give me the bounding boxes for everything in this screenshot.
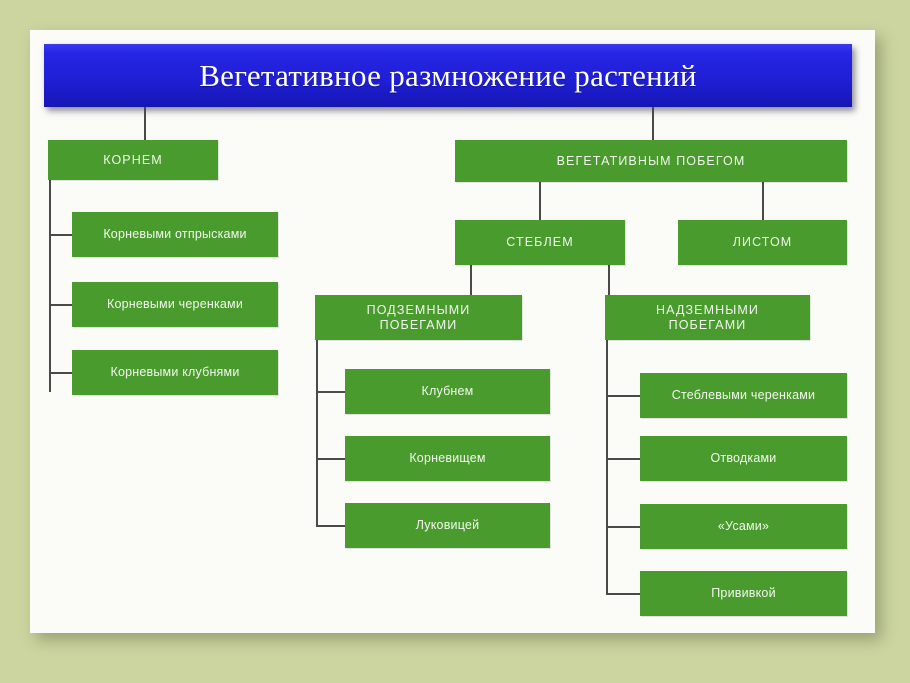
- node-kornem-label: КОРНЕМ: [103, 153, 163, 168]
- node-listom-label: ЛИСТОМ: [733, 235, 793, 250]
- node-podzemnymi-pobegami[interactable]: ПОДЗЕМНЫМИ ПОБЕГАМИ: [315, 295, 522, 340]
- node-lukovicey-label: Луковицей: [416, 518, 480, 533]
- node-steblem[interactable]: СТЕБЛЕМ: [455, 220, 625, 265]
- node-kornevymi-cherenkami-label: Корневыми черенками: [107, 297, 243, 312]
- connector-nadzemnymi-stub-4: [606, 593, 640, 595]
- connector-banner-to-vegetative: [652, 107, 654, 140]
- node-steblevymi-cherenkami[interactable]: Стеблевыми черенками: [640, 373, 847, 418]
- node-usami[interactable]: «Усами»: [640, 504, 847, 549]
- connector-nadzemnymi-trunk: [606, 340, 608, 593]
- node-privivkoy-label: Прививкой: [711, 586, 776, 601]
- connector-podzemnymi-stub-3: [316, 525, 345, 527]
- node-otvodkami[interactable]: Отводками: [640, 436, 847, 481]
- connector-nadzemnymi-stub-3: [606, 526, 640, 528]
- node-kornevymi-klubnyami[interactable]: Корневыми клубнями: [72, 350, 278, 395]
- node-kornevishchem[interactable]: Корневищем: [345, 436, 550, 481]
- node-listom[interactable]: ЛИСТОМ: [678, 220, 847, 265]
- node-vegetativnym-pobegom[interactable]: ВЕГЕТАТИВНЫМ ПОБЕГОМ: [455, 140, 847, 182]
- node-podzemnymi-pobegami-label: ПОДЗЕМНЫМИ ПОБЕГАМИ: [367, 303, 471, 333]
- node-lukovicey[interactable]: Луковицей: [345, 503, 550, 548]
- node-klubnem[interactable]: Клубнем: [345, 369, 550, 414]
- node-kornevishchem-label: Корневищем: [409, 451, 485, 466]
- title-banner: Вегетативное размножение растений: [44, 44, 852, 107]
- node-kornevymi-cherenkami[interactable]: Корневыми черенками: [72, 282, 278, 327]
- node-nadzemnymi-pobegami-label: НАДЗЕМНЫМИ ПОБЕГАМИ: [656, 303, 759, 333]
- node-vegetativnym-pobegom-label: ВЕГЕТАТИВНЫМ ПОБЕГОМ: [557, 154, 746, 169]
- connector-podzemnymi-stub-2: [316, 458, 345, 460]
- connector-banner-to-kornem: [144, 107, 146, 140]
- connector-kornem-stub-3: [49, 372, 72, 374]
- connector-nadzemnymi-stub-2: [606, 458, 640, 460]
- page-title: Вегетативное размножение растений: [199, 58, 697, 94]
- node-kornevymi-otpryskami[interactable]: Корневыми отпрысками: [72, 212, 278, 257]
- node-kornevymi-otpryskami-label: Корневыми отпрысками: [103, 227, 246, 242]
- node-nadzemnymi-pobegami[interactable]: НАДЗЕМНЫМИ ПОБЕГАМИ: [605, 295, 810, 340]
- connector-steblem-to-nadzemnymi: [608, 265, 610, 295]
- connector-kornem-stub-2: [49, 304, 72, 306]
- node-kornevymi-klubnyami-label: Корневыми клубнями: [110, 365, 239, 380]
- connector-steblem-to-podzemnymi: [470, 265, 472, 295]
- connector-nadzemnymi-stub-1: [606, 395, 640, 397]
- connector-podzemnymi-stub-1: [316, 391, 345, 393]
- node-klubnem-label: Клубнем: [422, 384, 474, 399]
- connector-podzemnymi-trunk: [316, 340, 318, 525]
- node-steblevymi-cherenkami-label: Стеблевыми черенками: [672, 388, 815, 403]
- node-privivkoy[interactable]: Прививкой: [640, 571, 847, 616]
- connector-vegetative-to-listom: [762, 182, 764, 220]
- connector-kornem-stub-1: [49, 234, 72, 236]
- node-otvodkami-label: Отводками: [711, 451, 777, 466]
- connector-vegetative-to-steblem: [539, 182, 541, 220]
- node-usami-label: «Усами»: [718, 519, 769, 534]
- slide-panel: Вегетативное размножение растений КОРНЕМ…: [30, 30, 875, 633]
- node-kornem[interactable]: КОРНЕМ: [48, 140, 218, 180]
- connector-kornem-trunk: [49, 180, 51, 392]
- node-steblem-label: СТЕБЛЕМ: [506, 235, 573, 250]
